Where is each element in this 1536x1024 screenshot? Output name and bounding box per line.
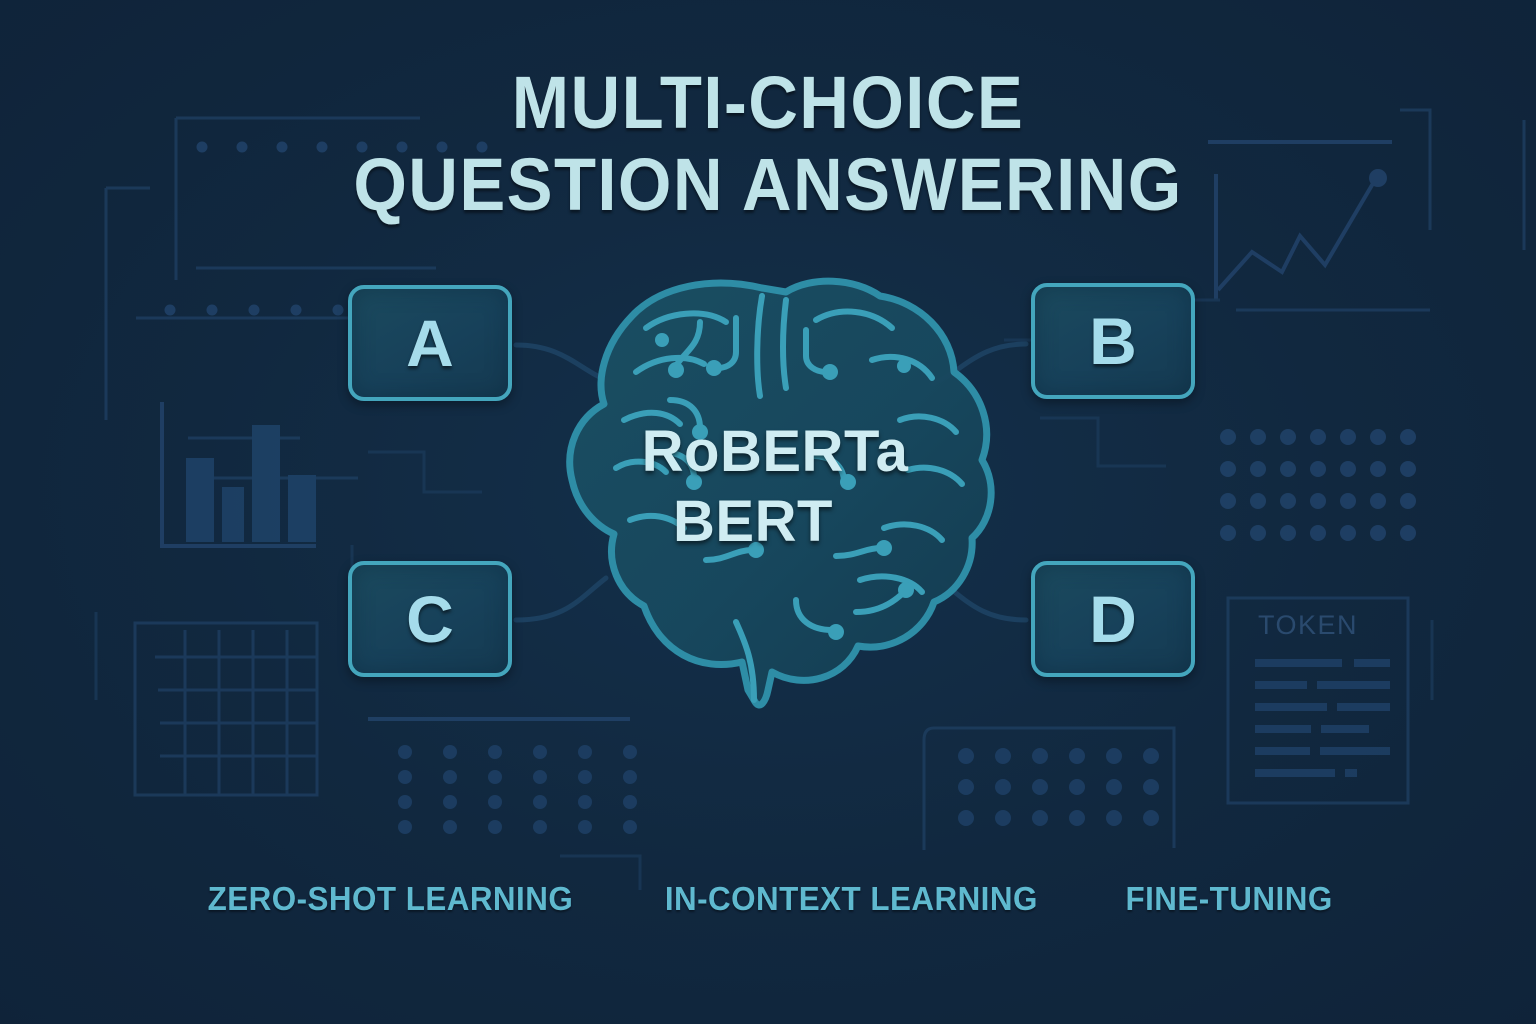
footer-tag-in-context: IN-CONTEXT LEARNING: [665, 880, 1038, 918]
token-panel-label: TOKEN: [1258, 610, 1358, 641]
deco-bar-chart-bars: [186, 425, 316, 542]
option-box-c[interactable]: C: [348, 561, 512, 677]
deco-dot-grid-bottom-center: [398, 745, 637, 834]
deco-grid-table: [135, 623, 317, 795]
option-box-d[interactable]: D: [1031, 561, 1195, 677]
background-decoration: [0, 0, 1536, 1024]
deco-dot-grid-right: [1220, 429, 1416, 541]
option-label-c: C: [406, 586, 454, 652]
deco-dot-grid-bottom-right: [958, 748, 1159, 826]
option-box-a[interactable]: A: [348, 285, 512, 401]
option-box-b[interactable]: B: [1031, 283, 1195, 399]
deco-token-text-lines: [1255, 659, 1390, 777]
option-label-a: A: [406, 310, 454, 376]
footer-tag-list: ZERO-SHOT LEARNING IN-CONTEXT LEARNING F…: [0, 880, 1536, 918]
option-label-d: D: [1089, 586, 1137, 652]
infographic-canvas: MULTI-CHOICE QUESTION ANSWERING A B C D …: [0, 0, 1536, 1024]
deco-line-chart: [1208, 142, 1392, 300]
option-label-b: B: [1089, 308, 1137, 374]
footer-tag-zero-shot: ZERO-SHOT LEARNING: [208, 880, 574, 918]
brain-graphic: [570, 281, 991, 705]
deco-line-chart-endpoint: [1369, 169, 1387, 187]
footer-tag-fine-tuning: FINE-TUNING: [1125, 880, 1332, 918]
